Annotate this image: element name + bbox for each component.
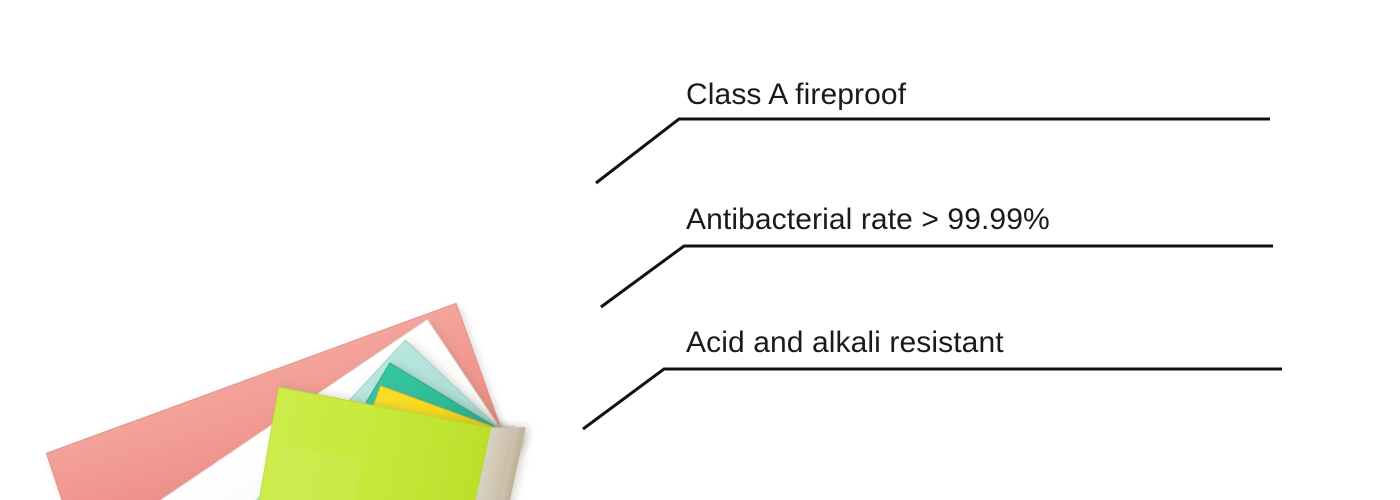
leader-line-class-a-fireproof (596, 119, 1270, 183)
leader-line-antibacterial-rate (601, 246, 1273, 307)
callout-label-antibacterial-rate: Antibacterial rate > 99.99% (686, 205, 1050, 235)
callout-label-class-a-fireproof: Class A fireproof (686, 80, 906, 110)
panel-fan-illustration (0, 0, 1400, 500)
callout-label-acid-alkali-resistant: Acid and alkali resistant (686, 328, 1004, 358)
leader-line-acid-alkali-resistant (583, 369, 1282, 429)
callout-scene: Class A fireproof Antibacterial rate > 9… (0, 0, 1400, 500)
